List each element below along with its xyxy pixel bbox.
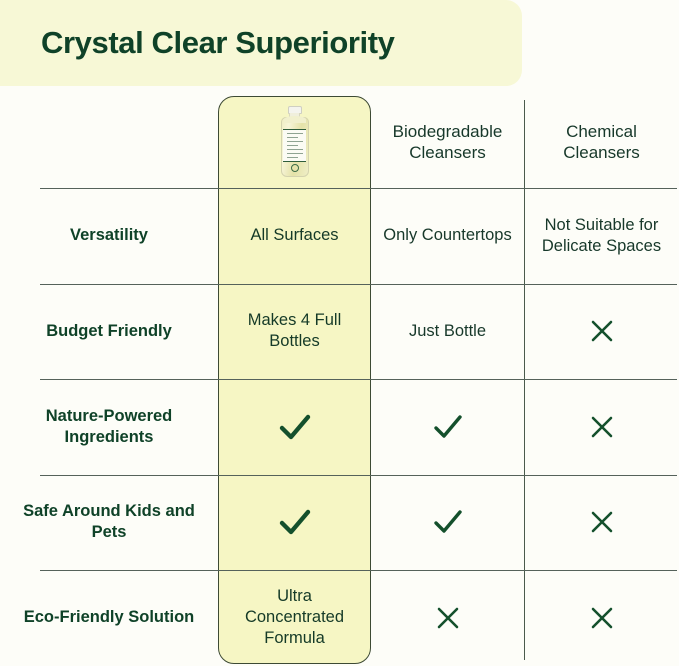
cell-product: Ultra Concentrated Formula — [218, 570, 371, 666]
cell-chemical: Not Suitable for Delicate Spaces — [524, 188, 679, 284]
cell-product — [218, 475, 371, 571]
row-label-cell: Eco-Friendly Solution — [0, 570, 218, 666]
header-label-biodegradable: Biodegradable Cleansers — [379, 121, 516, 164]
cell-biodegradable — [371, 475, 524, 571]
row-label-cell: Safe Around Kids and Pets — [0, 475, 218, 571]
cell-product — [218, 379, 371, 475]
table-row: Safe Around Kids and Pets — [0, 475, 679, 571]
cell-value: Only Countertops — [383, 225, 511, 246]
check-icon — [275, 409, 315, 445]
cell-value: Not Suitable for Delicate Spaces — [532, 215, 671, 257]
table-row: Budget Friendly Makes 4 Full Bottles Jus… — [0, 284, 679, 380]
cell-chemical — [524, 284, 679, 380]
table-row: Eco-Friendly Solution Ultra Concentrated… — [0, 570, 679, 666]
bottle-seal-icon — [291, 164, 299, 172]
check-icon — [430, 411, 466, 443]
cell-chemical — [524, 379, 679, 475]
row-label: Versatility — [70, 225, 148, 246]
table-header-row: Biodegradable Cleansers Chemical Cleanse… — [0, 96, 679, 188]
cell-chemical — [524, 475, 679, 571]
table-row: Versatility All Surfaces Only Countertop… — [0, 188, 679, 284]
title-banner: Crystal Clear Superiority — [0, 0, 522, 86]
header-corner-cell — [0, 96, 218, 188]
cell-product: All Surfaces — [218, 188, 371, 284]
cell-biodegradable: Just Bottle — [371, 284, 524, 380]
table-row: Nature-Powered Ingredients — [0, 379, 679, 475]
row-label-cell: Versatility — [0, 188, 218, 284]
row-label: Nature-Powered Ingredients — [8, 406, 210, 448]
check-icon — [430, 506, 466, 538]
page-title: Crystal Clear Superiority — [41, 25, 395, 61]
cell-value: Just Bottle — [409, 321, 486, 342]
cross-icon — [587, 316, 617, 346]
header-cell-chemical: Chemical Cleansers — [524, 96, 679, 188]
cross-icon — [587, 603, 617, 633]
cross-icon — [587, 412, 617, 442]
bottle-shoulder — [284, 116, 306, 123]
row-label: Safe Around Kids and Pets — [8, 501, 210, 543]
cell-value: Makes 4 Full Bottles — [226, 310, 363, 352]
cell-product: Makes 4 Full Bottles — [218, 284, 371, 380]
cross-icon — [433, 603, 463, 633]
row-label: Eco-Friendly Solution — [24, 607, 195, 628]
header-label-chemical: Chemical Cleansers — [532, 121, 671, 164]
row-label-cell: Budget Friendly — [0, 284, 218, 380]
check-icon — [275, 504, 315, 540]
header-cell-product — [218, 96, 371, 188]
cell-chemical — [524, 570, 679, 666]
table-grid: Biodegradable Cleansers Chemical Cleanse… — [0, 96, 679, 666]
comparison-table: Biodegradable Cleansers Chemical Cleanse… — [0, 96, 679, 666]
row-label-cell: Nature-Powered Ingredients — [0, 379, 218, 475]
cell-biodegradable — [371, 379, 524, 475]
cell-biodegradable — [371, 570, 524, 666]
bottle-label — [283, 129, 306, 162]
row-label: Budget Friendly — [46, 321, 172, 342]
product-bottle-icon — [278, 106, 312, 178]
cell-value: Ultra Concentrated Formula — [226, 586, 363, 649]
cross-icon — [587, 507, 617, 537]
header-cell-biodegradable: Biodegradable Cleansers — [371, 96, 524, 188]
cell-biodegradable: Only Countertops — [371, 188, 524, 284]
cell-value: All Surfaces — [250, 225, 338, 246]
